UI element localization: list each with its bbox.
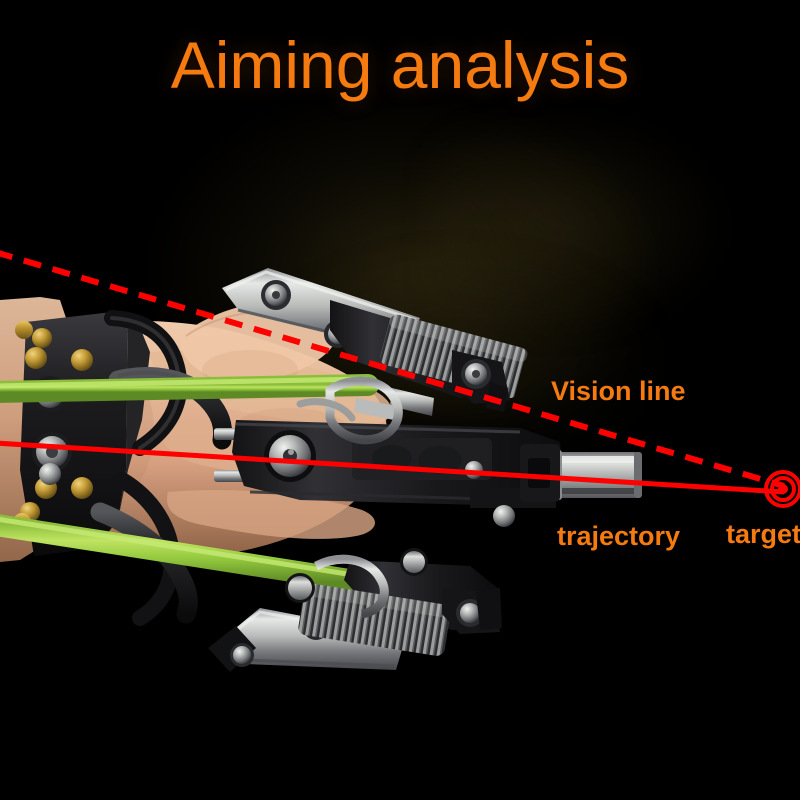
label-trajectory: trajectory [557, 521, 680, 552]
target-marker [766, 472, 800, 506]
product-annotation-image: Aiming analysis Vision line trajectory t… [0, 0, 800, 800]
label-target: target [726, 519, 800, 550]
page-title: Aiming analysis [0, 32, 800, 98]
label-vision-line: Vision line [551, 376, 686, 407]
